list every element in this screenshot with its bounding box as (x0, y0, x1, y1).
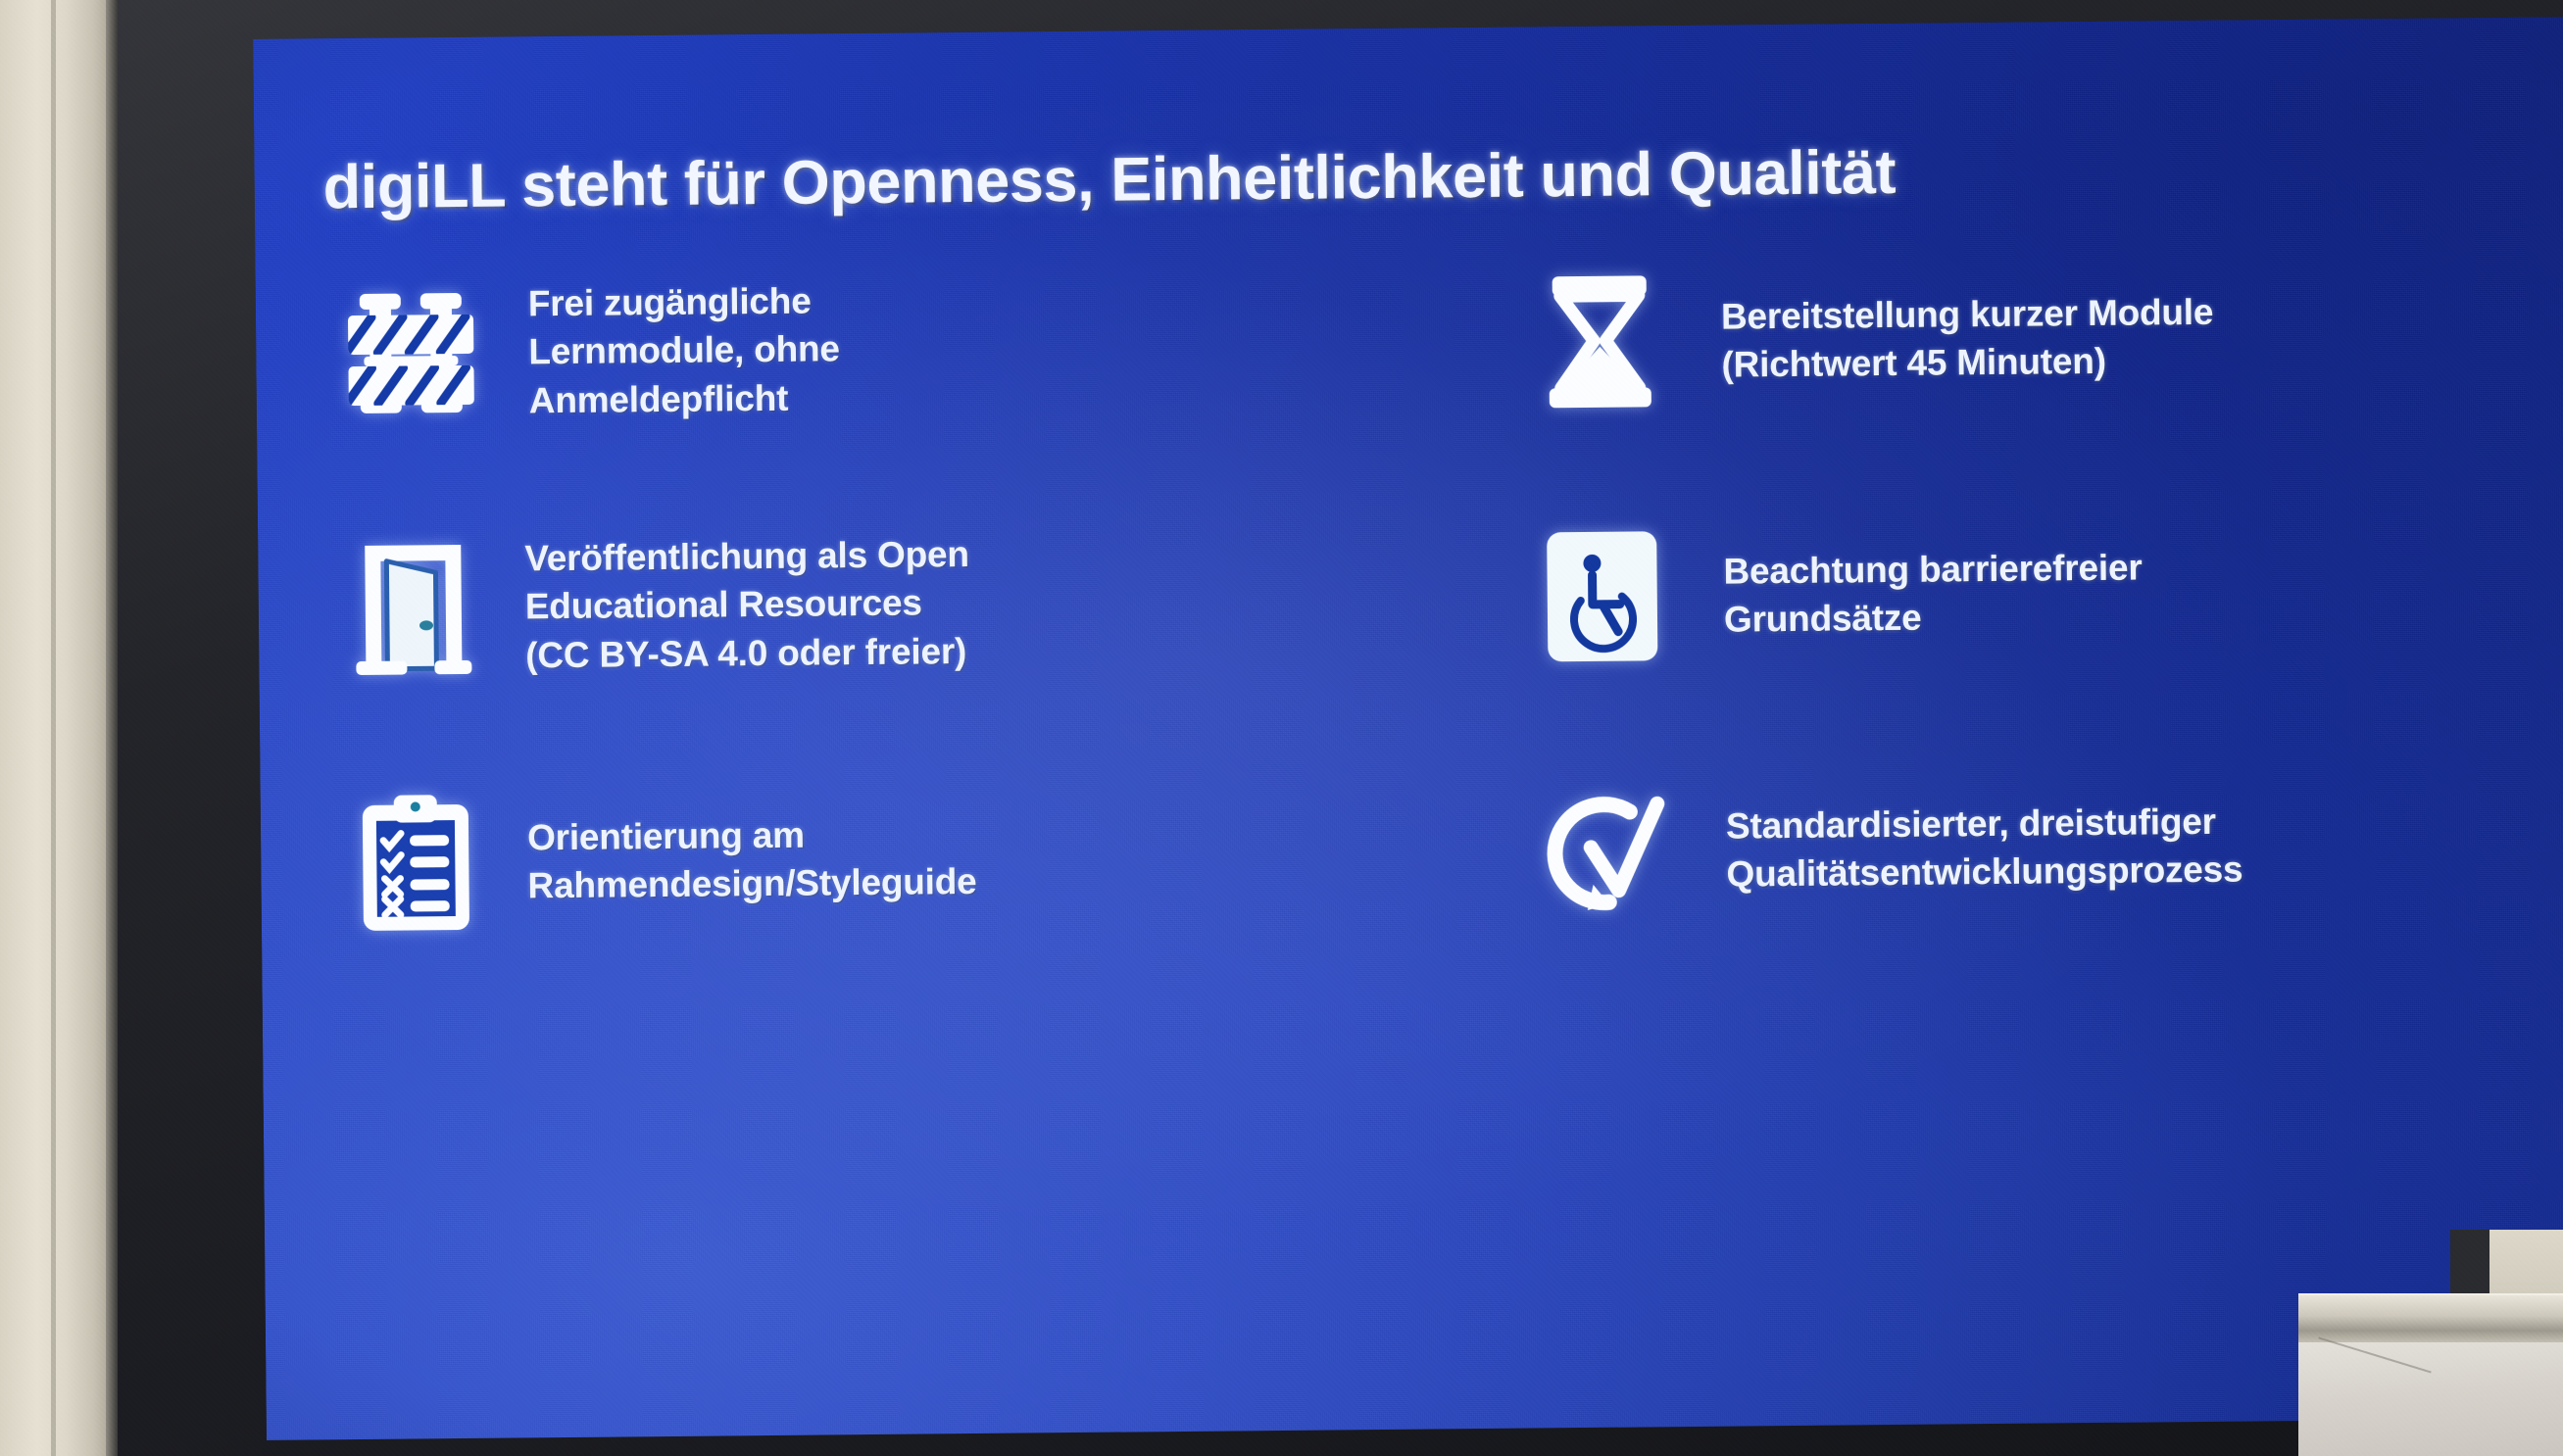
clipboard-checklist-icon (329, 780, 504, 946)
barrier-icon (324, 270, 499, 437)
feature-line: Frei zugängliche (528, 276, 840, 327)
feature-line: Anmeldepflicht (529, 373, 841, 424)
feature-line: Orientierung am (527, 809, 976, 862)
hourglass-icon (1512, 259, 1687, 425)
feature-text: Bereitstellung kurzer Module (Richtwert … (1686, 288, 2214, 390)
slide-title: digiLL steht für Openness, Einheitlichke… (322, 133, 2538, 222)
screen-bezel: digiLL steht für Openness, Einheitlichke… (118, 0, 2563, 1456)
presentation-slide: digiLL steht für Openness, Einheitlichke… (253, 17, 2563, 1440)
flipchart-paper (2298, 1342, 2563, 1456)
feature-line: Grundsätze (1724, 592, 2143, 644)
flipchart-rail (2298, 1293, 2563, 1344)
photo-scene: digiLL steht für Openness, Einheitlichke… (0, 0, 2563, 1456)
feature-line: Lernmodule, ohne (528, 325, 840, 376)
accessibility-wheelchair-icon (1515, 513, 1690, 680)
feature-item-frei-zugaengliche: Frei zugängliche Lernmodule, ohne Anmeld… (324, 262, 1409, 437)
wall-left-strip (0, 0, 106, 1456)
feature-line: (CC BY-SA 4.0 oder freier) (525, 627, 970, 680)
feature-line: Beachtung barrierefreier (1723, 543, 2142, 595)
slide-content: digiLL steht für Openness, Einheitlichke… (253, 17, 2563, 1440)
feature-line: Veröffentlichung als Open (524, 530, 969, 583)
refresh-check-icon (1517, 768, 1692, 935)
feature-line: Qualitätsentwicklungsprozess (1726, 846, 2243, 898)
feature-text: Standardisierter, dreistufiger Qualitäts… (1691, 797, 2243, 898)
projected-slide-wrapper: digiLL steht für Openness, Einheitlichke… (253, 0, 2563, 1444)
feature-item-qualitaetsprozess: Standardisierter, dreistufiger Qualitäts… (1470, 760, 2555, 936)
feature-text: Beachtung barrierefreier Grundsätze (1688, 543, 2143, 644)
feature-text: Frei zugängliche Lernmodule, ohne Anmeld… (497, 276, 841, 424)
feature-item-barrierefreiheit: Beachtung barrierefreier Grundsätze (1468, 506, 2553, 681)
feature-item-bereitstellung-kurzer-module: Bereitstellung kurzer Module (Richtwert … (1465, 251, 2550, 426)
feature-line: Standardisierter, dreistufiger (1726, 797, 2243, 849)
feature-line: Bereitstellung kurzer Module (1721, 288, 2214, 341)
feature-item-rahmendesign-styleguide: Orientierung am Rahmendesign/Styleguide (329, 771, 1414, 946)
feature-text: Orientierung am Rahmendesign/Styleguide (502, 809, 977, 910)
feature-line: (Richtwert 45 Minuten) (1721, 336, 2214, 389)
feature-item-veroeffentlichung-oer: Veröffentlichung als Open Educational Re… (326, 516, 1411, 692)
feature-text: Veröffentlichung als Open Educational Re… (499, 530, 970, 679)
feature-line: Rahmendesign/Styleguide (527, 857, 976, 910)
open-door-icon (326, 525, 501, 692)
flipchart-board (2298, 1293, 2563, 1456)
feature-line: Educational Resources (525, 578, 970, 631)
feature-grid: Frei zugängliche Lernmodule, ohne Anmeld… (324, 251, 2555, 946)
